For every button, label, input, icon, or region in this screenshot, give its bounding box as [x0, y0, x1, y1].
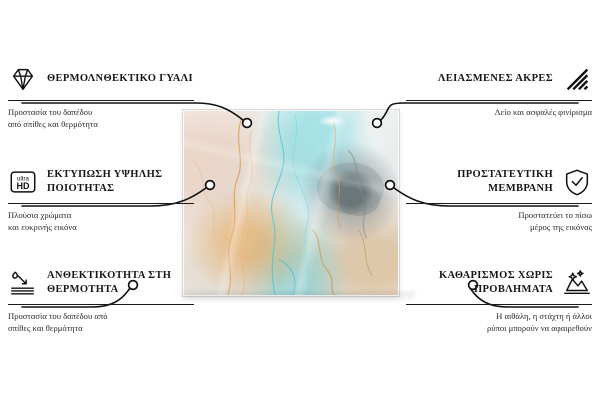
feature-description: Η αιθάλη, η στάχτη ή άλλοιρύποι μπορούν … — [406, 310, 592, 334]
sparkle-wipe-icon — [562, 268, 592, 298]
hotspot-dot-2[interactable] — [206, 181, 215, 190]
feature-divider — [406, 100, 592, 101]
feature-title: ΠΡΟΣΤΑΤΕΥΤΙΚΗ ΜΕΜΒΡΑΝΗ — [406, 168, 553, 196]
feature-description: Προστασία του δαπέδου απόσπίθες και θερμ… — [8, 310, 194, 334]
infographic-canvas: ΘΕΡΜΟΛΝΘΕΚΤΙΚΟ ΓΥΑΛΙ Προστασία του δαπέδ… — [0, 0, 600, 400]
feature-divider — [8, 100, 194, 101]
feature-header: ultra HD ΕΚΤΥΠΩΣΗ ΥΨΗΛΗΣ ΠΟΙΟΤΗΤΑΣ — [8, 165, 194, 199]
feature-title: ΛΕΙΑΣΜΕΝΕΣ ΑΚΡΕΣ — [438, 72, 553, 86]
feature-header: ΘΕΡΜΟΛΝΘΕΚΤΙΚΟ ΓΥΑΛΙ — [8, 62, 194, 96]
hotspot-dot-1[interactable] — [243, 119, 252, 128]
feature-polished-edges: ΛΕΙΑΣΜΕΝΕΣ ΑΚΡΕΣ Λείο και ασφαλές φινίρι… — [406, 62, 592, 118]
feature-title: ΚΑΘΑΡΙΣΜΟΣ ΧΩΡΙΣ ΠΡΟΒΛΗΜΑΤΑ — [406, 269, 553, 297]
feature-header: ΑΝΘΕΚΤΙΚΟΤΗΤΑ ΣΤΗ ΘΕΡΜΟΤΗΤΑ — [8, 266, 194, 300]
feature-description: Προστατεύει το πίσωμέρος της εικόνας — [406, 209, 592, 233]
feature-title: ΑΝΘΕΚΤΙΚΟΤΗΤΑ ΣΤΗ ΘΕΡΜΟΤΗΤΑ — [47, 269, 194, 297]
feature-high-quality-print: ultra HD ΕΚΤΥΠΩΣΗ ΥΨΗΛΗΣ ΠΟΙΟΤΗΤΑΣ Πλούσ… — [8, 165, 194, 233]
feature-description: Προστασία του δαπέδουαπό σπίθες και θερμ… — [8, 106, 194, 130]
feature-title: ΕΚΤΥΠΩΣΗ ΥΨΗΛΗΣ ΠΟΙΟΤΗΤΑΣ — [47, 168, 194, 196]
feature-header: ΚΑΘΑΡΙΣΜΟΣ ΧΩΡΙΣ ΠΡΟΒΛΗΜΑΤΑ — [406, 266, 592, 300]
feature-divider — [8, 304, 194, 305]
polished-edges-icon — [562, 64, 592, 94]
heat-resistant-icon — [8, 268, 38, 298]
feature-description: Πλούσια χρώματακαι ευκρινής εικόνα — [8, 209, 194, 233]
diamond-icon — [8, 64, 38, 94]
hotspot-dot-4[interactable] — [373, 119, 382, 128]
feature-easy-cleaning: ΚΑΘΑΡΙΣΜΟΣ ΧΩΡΙΣ ΠΡΟΒΛΗΜΑΤΑ Η αιθάλη, η … — [406, 266, 592, 334]
shield-check-icon — [562, 167, 592, 197]
hotspot-dot-5[interactable] — [386, 181, 395, 190]
feature-header: ΠΡΟΣΤΑΤΕΥΤΙΚΗ ΜΕΜΒΡΑΝΗ — [406, 165, 592, 199]
feature-heat-resistant-glass: ΘΕΡΜΟΛΝΘΕΚΤΙΚΟ ΓΥΑΛΙ Προστασία του δαπέδ… — [8, 62, 194, 130]
feature-divider — [406, 304, 592, 305]
feature-title: ΘΕΡΜΟΛΝΘΕΚΤΙΚΟ ΓΥΑΛΙ — [47, 72, 193, 86]
feature-description: Λείο και ασφαλές φινίρισμα — [406, 106, 592, 118]
feature-protective-membrane: ΠΡΟΣΤΑΤΕΥΤΙΚΗ ΜΕΜΒΡΑΝΗ Προστατεύει το πί… — [406, 165, 592, 233]
ultra-hd-icon: ultra HD — [8, 167, 38, 197]
feature-divider — [8, 203, 194, 204]
feature-header: ΛΕΙΑΣΜΕΝΕΣ ΑΚΡΕΣ — [406, 62, 592, 96]
feature-heat-resistance: ΑΝΘΕΚΤΙΚΟΤΗΤΑ ΣΤΗ ΘΕΡΜΟΤΗΤΑ Προστασία το… — [8, 266, 194, 334]
svg-text:HD: HD — [17, 181, 30, 191]
feature-divider — [406, 203, 592, 204]
